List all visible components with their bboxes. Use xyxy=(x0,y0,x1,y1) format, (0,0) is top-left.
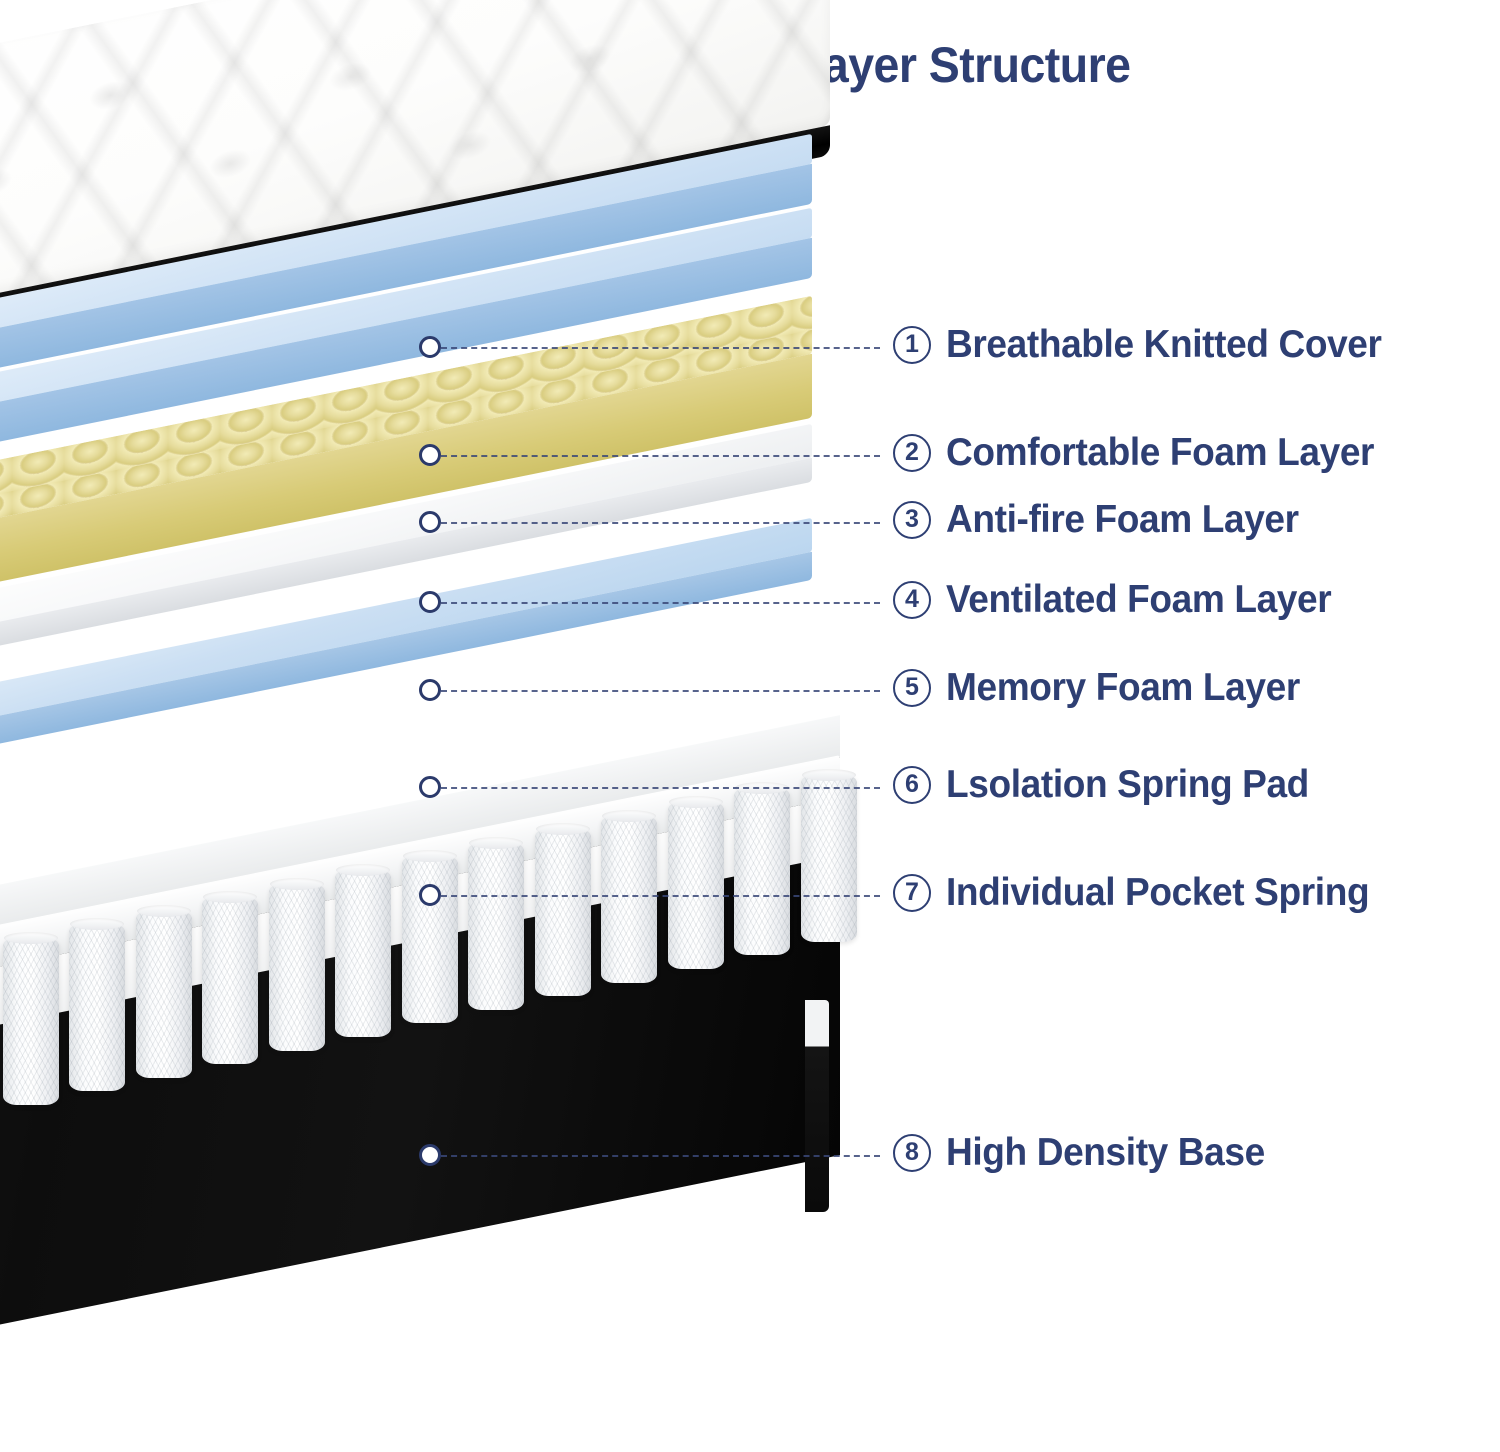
layer-label-1: 1Breathable Knitted Cover xyxy=(893,323,1405,367)
layer-marker-1[interactable] xyxy=(419,336,441,358)
layer-label-text-1: Breathable Knitted Cover xyxy=(946,323,1382,367)
layer-label-text-8: High Density Base xyxy=(946,1131,1265,1175)
layer-number-badge-6: 6 xyxy=(893,766,931,804)
layer-comfortable-foam xyxy=(0,358,812,388)
layer-label-4: 4Ventilated Foam Layer xyxy=(893,578,1352,622)
pocket-spring xyxy=(136,910,192,1078)
pocket-spring xyxy=(269,883,325,1051)
leader-line-6 xyxy=(441,787,880,789)
pocket-spring xyxy=(734,787,790,955)
layer-number-badge-1: 1 xyxy=(893,326,931,364)
layer-number-badge-5: 5 xyxy=(893,669,931,707)
layer-marker-8[interactable] xyxy=(419,1144,441,1166)
leader-line-3 xyxy=(441,522,880,524)
layer-number-badge-4: 4 xyxy=(893,581,931,619)
layer-ventilated-foam xyxy=(0,520,812,578)
leader-line-7 xyxy=(441,895,880,897)
layer-label-text-5: Memory Foam Layer xyxy=(946,666,1300,710)
leader-line-2 xyxy=(441,455,880,457)
layer-label-text-4: Ventilated Foam Layer xyxy=(946,578,1331,622)
layer-marker-7[interactable] xyxy=(419,884,441,906)
layer-isolation-spring-pad xyxy=(0,742,812,776)
leader-line-4 xyxy=(441,602,880,604)
layer-number-badge-8: 8 xyxy=(893,1134,931,1172)
layer-label-2: 2Comfortable Foam Layer xyxy=(893,431,1397,475)
pocket-spring xyxy=(601,815,657,983)
layer-number-badge-2: 2 xyxy=(893,434,931,472)
pocket-spring xyxy=(3,937,59,1105)
pocket-spring xyxy=(668,801,724,969)
layer-marker-6[interactable] xyxy=(419,776,441,798)
layer-marker-4[interactable] xyxy=(419,591,441,613)
layer-anti-fire-foam xyxy=(0,432,812,462)
layer-label-5: 5Memory Foam Layer xyxy=(893,666,1319,710)
layer-label-8: 8High Density Base xyxy=(893,1131,1282,1175)
pocket-spring xyxy=(535,828,591,996)
layer-marker-3[interactable] xyxy=(419,511,441,533)
layer-label-text-3: Anti-fire Foam Layer xyxy=(946,498,1299,542)
layer-label-3: 3Anti-fire Foam Layer xyxy=(893,498,1317,542)
leader-line-8 xyxy=(441,1155,880,1157)
pocket-spring xyxy=(801,774,857,942)
pocket-spring xyxy=(69,923,125,1091)
layer-number-badge-7: 7 xyxy=(893,874,931,912)
pocket-spring xyxy=(202,896,258,1064)
leader-line-5 xyxy=(441,690,880,692)
layer-label-text-2: Comfortable Foam Layer xyxy=(946,431,1374,475)
pocket-spring xyxy=(402,855,458,1023)
layer-label-6: 6Lsolation Spring Pad xyxy=(893,763,1328,807)
leader-line-1 xyxy=(441,347,880,349)
layer-label-7: 7Individual Pocket Spring xyxy=(893,871,1391,915)
layer-label-text-6: Lsolation Spring Pad xyxy=(946,763,1309,807)
layer-marker-5[interactable] xyxy=(419,679,441,701)
layer-marker-2[interactable] xyxy=(419,444,441,466)
layer-label-text-7: Individual Pocket Spring xyxy=(946,871,1369,915)
pocket-spring xyxy=(335,869,391,1037)
mattress-layer-illustration xyxy=(0,0,1500,1452)
pocket-spring xyxy=(468,842,524,1010)
base-right-face xyxy=(805,1000,829,1212)
product-infographic: Comfort & Perfect 8-layer Structure xyxy=(0,0,1500,1452)
layer-memory-foam xyxy=(0,648,812,682)
layer-number-badge-3: 3 xyxy=(893,501,931,539)
